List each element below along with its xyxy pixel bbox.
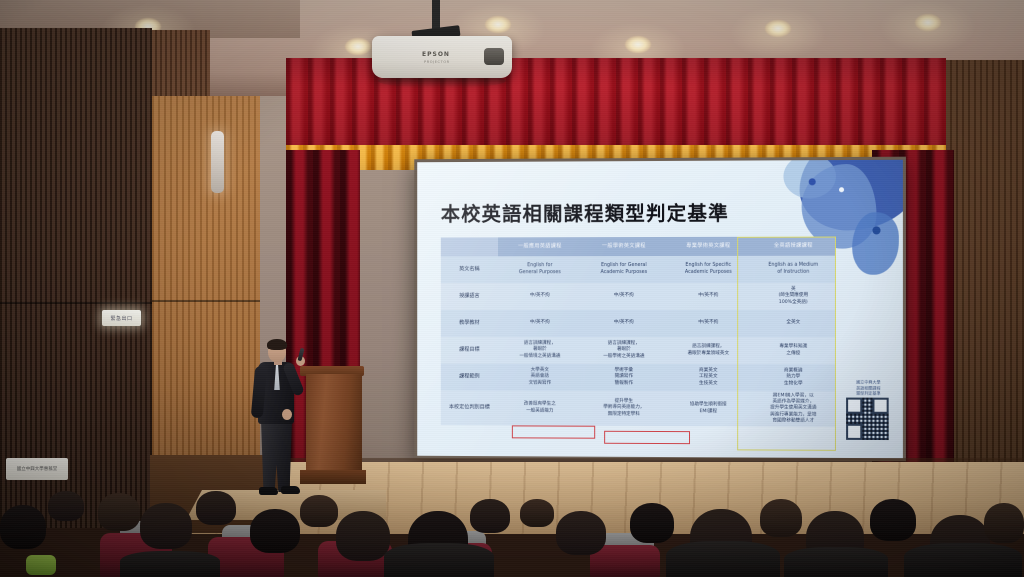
highlight-box-general-ability [512, 425, 595, 438]
table-cell: 專業學科知識之傳授 [751, 337, 836, 364]
audience-head [48, 491, 84, 521]
table-col-header: 全英語授課課程 [751, 237, 836, 256]
audience-shoulders [904, 543, 1022, 577]
table-cell: 中/英不拘 [666, 283, 751, 310]
downlight-icon [345, 38, 371, 55]
table-col-header: 一般學術英文課程 [582, 237, 666, 256]
audience-head [0, 505, 46, 549]
audience-head [520, 499, 554, 527]
projector-brand-label: EPSON [422, 51, 450, 58]
audience-shoulders [384, 543, 494, 577]
table-cell: 將EMI納入學習，以英語作為學習媒介，提升學生使用英文溝通與進行專業能力，是培育… [751, 391, 836, 426]
table-cell: 大學英文英語會話文법與寫作 [498, 364, 582, 391]
table-row: 課程目標 語言訓練課程，著眼於一般情境之英語溝通 語言訓練課程，著眼於一般學術之… [441, 337, 836, 365]
table-col-header: 一般應用英語課程 [498, 237, 582, 256]
downlight-icon [915, 14, 941, 31]
table-row-label: 課程範例 [441, 364, 498, 391]
decorative-dot-icon [809, 178, 816, 185]
table-col-header: 專業學術英文課程 [666, 237, 751, 256]
audience-shoulders [120, 551, 220, 577]
table-row-label: 授課語言 [441, 283, 498, 310]
downlight-icon [625, 36, 651, 53]
table-corner-cell [441, 237, 498, 256]
audience-head [984, 503, 1024, 543]
table-cell: 中/英不拘 [582, 283, 666, 310]
exit-sign: 緊急出口 [102, 310, 141, 326]
table-row: 本校定位判別目標 改善既有學生之一般英語能力 提升學生學術導向英語能力，無限定特… [441, 390, 836, 426]
table-row-label: 英文名稱 [441, 256, 498, 283]
audience-shoulders [666, 541, 780, 577]
table-row-label: 教學教材 [441, 310, 498, 337]
audience [0, 457, 1024, 577]
projector: EPSON PROJECTOR [372, 36, 512, 78]
course-criteria-table: 一般應用英語課程 一般學術英文課程 專業學術英文課程 全英語授課課程 英文名稱 … [441, 237, 836, 427]
table-cell: English forGeneral Purposes [498, 256, 582, 283]
table-cell: 中/英不拘 [498, 283, 582, 310]
table-row-label: 本校定位判別目標 [441, 390, 498, 425]
presentation-slide: 本校英語相關課程類型判定基準 一般應用英語課程 一般學術英文課程 專業學術英文課… [417, 160, 903, 459]
qr-caption: 國立中興大學英語相關課程類型判定基準 [846, 380, 891, 396]
audience-head [470, 499, 510, 533]
audience-head [140, 503, 192, 549]
table-cell: 協助學生順利銜接EMI課程 [666, 391, 751, 426]
exit-sign-label: 緊急出口 [110, 315, 132, 322]
wall-speaker-icon [211, 131, 224, 193]
table-cell: 中/英不拘 [582, 310, 666, 337]
table-cell: 中/英不拘 [498, 310, 582, 337]
table-cell: 學術字彙閱讀寫作簡報製作 [582, 364, 666, 391]
table-row: 授課語言 中/英不拘 中/英不拘 中/英不拘 英(師生間應使用100%全英語) [441, 283, 836, 310]
panel-seam [152, 300, 260, 302]
downlight-icon [485, 16, 511, 33]
table-cell: English for GeneralAcademic Purposes [582, 256, 666, 283]
audience-head [336, 511, 390, 561]
table-cell: English as a Mediumof Instruction [751, 256, 836, 283]
audience-head [196, 491, 236, 525]
projection-screen: 本校英語相關課程類型判定基準 一般應用英語課程 一般學術英文課程 專業學術英文課… [414, 157, 906, 462]
audience-head [300, 495, 338, 527]
downlight-icon [765, 20, 791, 37]
projector-lens-icon [484, 48, 504, 65]
audience-head [760, 499, 802, 537]
table-row: 英文名稱 English forGeneral Purposes English… [441, 256, 836, 284]
projection-screen-surface: 本校英語相關課程類型判定基準 一般應用英語課程 一般學術英文課程 專業學術英文課… [417, 160, 903, 459]
projector-sub-label: PROJECTOR [424, 60, 450, 64]
table-cell: English for SpecificAcademic Purposes [666, 256, 751, 283]
table-cell: 全英文 [751, 310, 836, 337]
left-wall-wood-panel [152, 96, 260, 516]
speaker-hair [267, 339, 287, 350]
decorative-dot-icon [839, 187, 844, 192]
table-cell: 改善既有學生之一般英語能力 [498, 391, 582, 426]
decorative-blob-icon [852, 212, 899, 275]
table-cell: 中/英不拘 [666, 310, 751, 337]
qr-code-block: 國立中興大學英語相關課程類型判定基準 [846, 380, 891, 440]
table-cell: 商業概論熱力學生物化學 [751, 364, 836, 391]
table-row-label: 課程目標 [441, 337, 498, 364]
speaker-left-hand [282, 409, 292, 420]
slide-title: 本校英語相關課程類型判定基準 [441, 197, 729, 227]
audience-head [98, 493, 140, 531]
qr-code-icon [846, 398, 889, 440]
lecture-hall-photo: 緊急出口 國立中興大學惠蓀堂 EPSON PROJECTOR 本校英語相關課程類… [0, 0, 1024, 577]
green-bag [26, 555, 56, 575]
audience-head [556, 511, 606, 555]
panel-seam [0, 302, 152, 304]
audience-head [870, 499, 916, 541]
audience-head [250, 509, 300, 553]
table-cell: 語言訓練課程，著眼於一般情境之英語溝通 [498, 337, 582, 364]
table-cell: 語言訓練課程，著眼於專業領域英文 [666, 337, 751, 364]
left-wall-dark-slats [0, 28, 152, 528]
table-row: 教學教材 中/英不拘 中/英不拘 中/英不拘 全英文 [441, 310, 836, 337]
audience-shoulders [784, 547, 888, 577]
table-cell: 英(師生間應使用100%全英語) [751, 283, 836, 310]
table-cell: 商業英文工程英文生技英文 [666, 364, 751, 391]
table-cell: 提升學生學術導向英語能力，無限定特定學科 [582, 391, 666, 426]
highlight-box-no-specific-subject [604, 431, 690, 444]
audience-head [630, 503, 674, 543]
table-row: 課程範例 大學英文英語會話文법與寫作 學術字彙閱讀寫作簡報製作 商業英文工程英文… [441, 364, 836, 392]
table-cell: 語言訓練課程，著眼於一般學術之英語溝通 [582, 337, 666, 364]
decorative-dot-icon [872, 226, 880, 234]
table-header-row: 一般應用英語課程 一般學術英文課程 專業學術英文課程 全英語授課課程 [441, 237, 836, 257]
